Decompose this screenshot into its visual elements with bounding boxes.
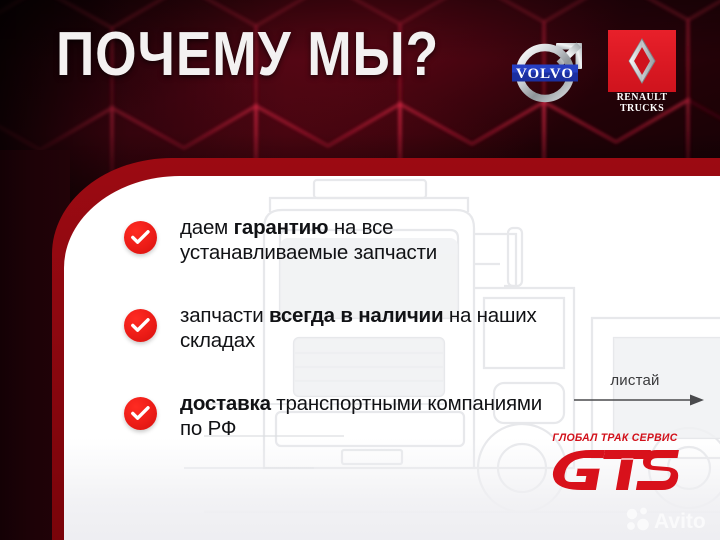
- promo-poster: ПОЧЕМУ МЫ?: [0, 0, 720, 540]
- list-item: запчасти всегда в наличии на наших склад…: [124, 303, 554, 355]
- check-circle-icon: [124, 309, 157, 342]
- list-item-text: запчасти всегда в наличии на наших склад…: [180, 303, 554, 353]
- swipe-hint: листай: [576, 373, 708, 389]
- text-part: запчасти: [180, 304, 269, 327]
- list-item-text: даем гарантию на все устанавливаемые зап…: [180, 215, 554, 265]
- benefits-list: даем гарантию на все устанавливаемые зап…: [124, 215, 554, 479]
- gts-company-logo: ГЛОБАЛ ТРАК СЕРВИС: [538, 432, 688, 494]
- text-part-bold: гарантию: [234, 216, 329, 239]
- check-circle-icon: [124, 221, 157, 254]
- list-item: доставка транспортными компаниями по РФ: [124, 391, 554, 443]
- arrow-right-icon: [574, 393, 704, 412]
- text-part: даем: [180, 216, 234, 239]
- text-part-bold: доставка: [180, 392, 271, 415]
- avito-wordmark: Avito: [654, 510, 706, 533]
- list-item-text: доставка транспортными компаниями по РФ: [180, 391, 554, 441]
- avito-watermark: Avito: [624, 505, 716, 540]
- text-part-bold: всегда в наличии: [269, 304, 443, 327]
- gts-tagline: ГЛОБАЛ ТРАК СЕРВИС: [546, 432, 685, 444]
- swipe-label: листай: [576, 373, 708, 389]
- check-circle-icon: [124, 397, 157, 430]
- list-item: даем гарантию на все устанавливаемые зап…: [124, 215, 554, 267]
- gts-wordmark: [538, 444, 688, 499]
